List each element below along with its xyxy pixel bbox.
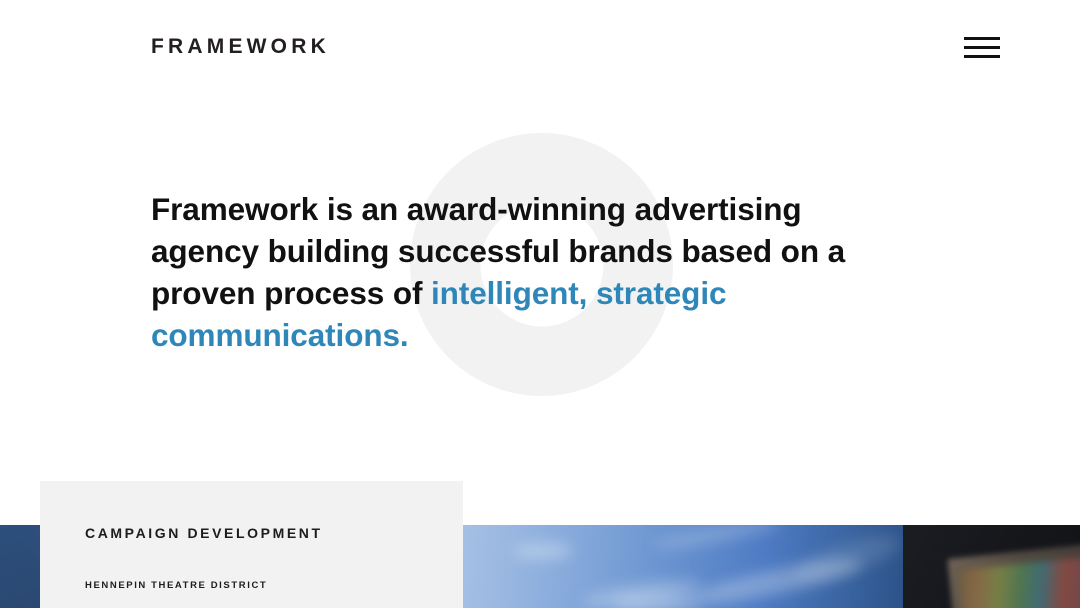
hamburger-bar-1	[964, 37, 1000, 40]
project-card-client: HENNEPIN THEATRE DISTRICT	[85, 580, 267, 591]
project-image-sky[interactable]	[463, 525, 903, 608]
hamburger-bar-2	[964, 46, 1000, 49]
cloud-wisp-1	[513, 543, 573, 559]
site-header: FRAMEWORK	[0, 0, 1080, 95]
headline-text-3: proven process of	[151, 275, 431, 311]
cloud-wisp-5	[791, 527, 903, 590]
headline-line-1: Framework is an award-winning advertisin…	[151, 188, 941, 230]
hamburger-menu-icon[interactable]	[964, 32, 1000, 62]
cloud-wisp-6	[613, 595, 703, 608]
site-logo[interactable]: FRAMEWORK	[151, 35, 330, 59]
cloud-wisp-2	[653, 525, 783, 552]
headline-text-2: agency building successful brands based …	[151, 233, 845, 269]
headline-line-4: communications.	[151, 314, 941, 356]
project-image-dark[interactable]	[903, 525, 1080, 608]
hamburger-bar-3	[964, 55, 1000, 58]
headline-text-1: Framework is an award-winning advertisin…	[151, 191, 802, 227]
page-root: FRAMEWORK Framework is an award-winning …	[0, 0, 1080, 608]
project-card-title: CAMPAIGN DEVELOPMENT	[85, 525, 323, 541]
headline-accent-4: communications.	[151, 317, 409, 353]
hero-headline: Framework is an award-winning advertisin…	[151, 188, 941, 356]
headline-line-2: agency building successful brands based …	[151, 230, 941, 272]
headline-accent-3: intelligent, strategic	[431, 275, 726, 311]
project-card[interactable]: CAMPAIGN DEVELOPMENT HENNEPIN THEATRE DI…	[40, 481, 463, 608]
headline-line-3: proven process of intelligent, strategic	[151, 272, 941, 314]
